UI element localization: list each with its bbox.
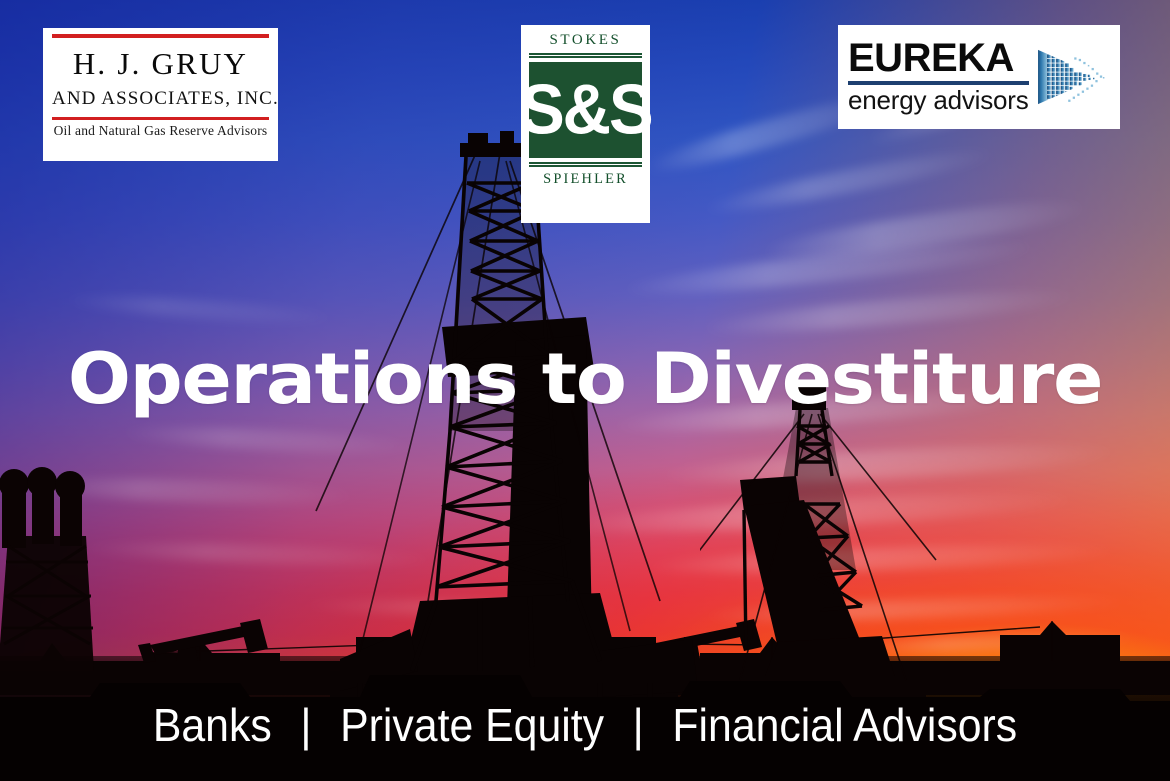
footer-separator-1: | bbox=[284, 702, 329, 748]
footer-item-banks: Banks bbox=[153, 699, 272, 751]
logo-stokes-spiehler[interactable]: STOKES S&S SPIEHLER bbox=[521, 25, 650, 223]
presentation-slide: H. J. GRUY AND ASSOCIATES, INC. Oil and … bbox=[0, 0, 1170, 781]
footer-separator-2: | bbox=[616, 702, 661, 748]
eureka-line1: EUREKA bbox=[848, 39, 1029, 78]
ss-rule-top bbox=[529, 53, 642, 58]
slide-headline: Operations to Divestiture bbox=[0, 344, 1170, 414]
stokes-word: STOKES bbox=[529, 32, 642, 49]
gruy-line2: AND ASSOCIATES, INC. bbox=[52, 89, 269, 109]
ss-rule-bottom bbox=[529, 162, 642, 167]
gruy-line1: H. J. GRUY bbox=[52, 48, 269, 81]
logo-eureka-energy-advisors[interactable]: EUREKA energy advisors bbox=[838, 25, 1120, 129]
gruy-top-rule bbox=[52, 34, 269, 38]
ss-monogram-block: S&S bbox=[529, 62, 642, 158]
ss-monogram: S&S bbox=[520, 75, 651, 146]
gruy-bottom-rule bbox=[52, 117, 269, 120]
footer-item-private-equity: Private Equity bbox=[340, 699, 604, 751]
gruy-tagline: Oil and Natural Gas Reserve Advisors bbox=[52, 124, 269, 139]
eureka-wordmark: EUREKA energy advisors bbox=[848, 39, 1029, 114]
eureka-line2: energy advisors bbox=[848, 87, 1029, 114]
logo-hj-gruy[interactable]: H. J. GRUY AND ASSOCIATES, INC. Oil and … bbox=[43, 28, 278, 161]
audience-footer: Banks | Private Equity | Financial Advis… bbox=[41, 702, 1129, 748]
eureka-triangle-wrap bbox=[1035, 35, 1110, 119]
pixelated-triangle-icon bbox=[1035, 35, 1110, 119]
spiehler-word: SPIEHLER bbox=[529, 171, 642, 188]
footer-item-financial-advisors: Financial Advisors bbox=[672, 699, 1017, 751]
